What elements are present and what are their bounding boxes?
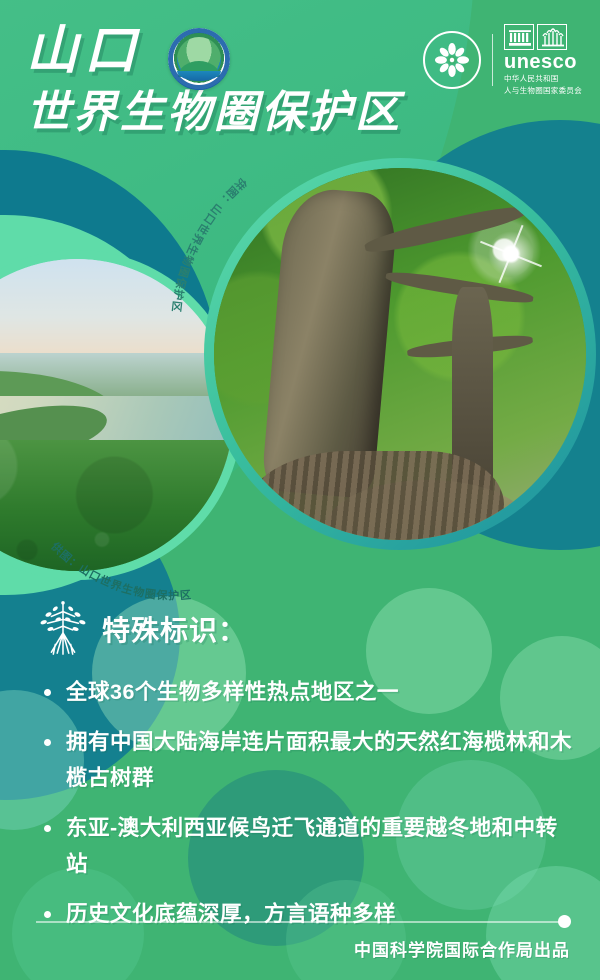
list-item: 东亚-澳大利西亚候鸟迁飞通道的重要越冬地和中转站 [66, 810, 572, 882]
unesco-mab-icon [537, 24, 567, 50]
list-item-text: 东亚-澳大利西亚候鸟迁飞通道的重要越冬地和中转站 [66, 816, 558, 876]
list-item-text: 拥有中国大陆海岸连片面积最大的天然红海榄林和木榄古树群 [66, 730, 572, 790]
list-bullet [44, 739, 51, 746]
unesco-logo: unesco 中华人民共和国 人与生物圈国家委员会 [504, 24, 582, 96]
poster-canvas: 山口 世界生物圈保护区 [0, 0, 600, 980]
ancient-mangrove-tree-photo-frame [204, 158, 596, 550]
list-bullet [44, 825, 51, 832]
list-item-text: 全球36个生物多样性热点地区之一 [66, 680, 399, 704]
list-bullet [44, 689, 51, 696]
special-features-section: 特殊标识： 全球36个生物多样性热点地区之一 拥有中国大陆海岸连片面积最大的天然… [0, 600, 600, 946]
photo-sky [0, 259, 233, 365]
emblem-outer-ring [168, 28, 230, 90]
shankou-reserve-emblem-icon [168, 28, 230, 90]
footer-divider-dot [558, 915, 571, 928]
temple-glyph [509, 29, 531, 46]
cas-flower-glyph [435, 43, 469, 77]
unesco-temple-icon [504, 24, 534, 50]
features-list: 全球36个生物多样性热点地区之一 拥有中国大陆海岸连片面积最大的天然红海榄林和木… [0, 674, 600, 932]
unesco-emblem-row [504, 24, 567, 50]
unesco-cn-line-2: 人与生物圈国家委员会 [504, 86, 582, 96]
footer-credit: 中国科学院国际合作局出品 [354, 936, 570, 961]
photo-mangrove-forest [0, 440, 233, 571]
cas-logo-icon [423, 31, 481, 89]
unesco-wordmark: unesco [504, 52, 577, 72]
list-item: 拥有中国大陆海岸连片面积最大的天然红海榄林和木榄古树群 [66, 724, 572, 796]
sunburst-icon [488, 231, 534, 277]
photo-canopy-texture [0, 440, 233, 571]
mab-glyph [541, 27, 565, 47]
mangrove-tree-icon [34, 600, 92, 658]
mangrove-estuary-photo [0, 259, 233, 571]
list-item: 历史文化底蕴深厚，方言语种多样 [66, 896, 572, 932]
ancient-mangrove-tree-photo [214, 168, 586, 540]
section-heading-row: 特殊标识： [0, 600, 600, 658]
mangrove-estuary-photo-frame [0, 250, 242, 580]
logo-lockup: unesco 中华人民共和国 人与生物圈国家委员会 [423, 24, 582, 96]
section-heading-label: 特殊标识： [102, 609, 247, 649]
logo-separator [492, 34, 493, 86]
poster-header: 山口 世界生物圈保护区 [0, 0, 600, 175]
footer-divider [36, 921, 562, 923]
list-bullet [44, 911, 51, 918]
unesco-cn-line-1: 中华人民共和国 [504, 74, 559, 84]
list-item: 全球36个生物多样性热点地区之一 [66, 674, 572, 710]
title-line-2: 世界生物圈保护区 [26, 86, 402, 140]
photo-prop-roots [244, 451, 504, 540]
